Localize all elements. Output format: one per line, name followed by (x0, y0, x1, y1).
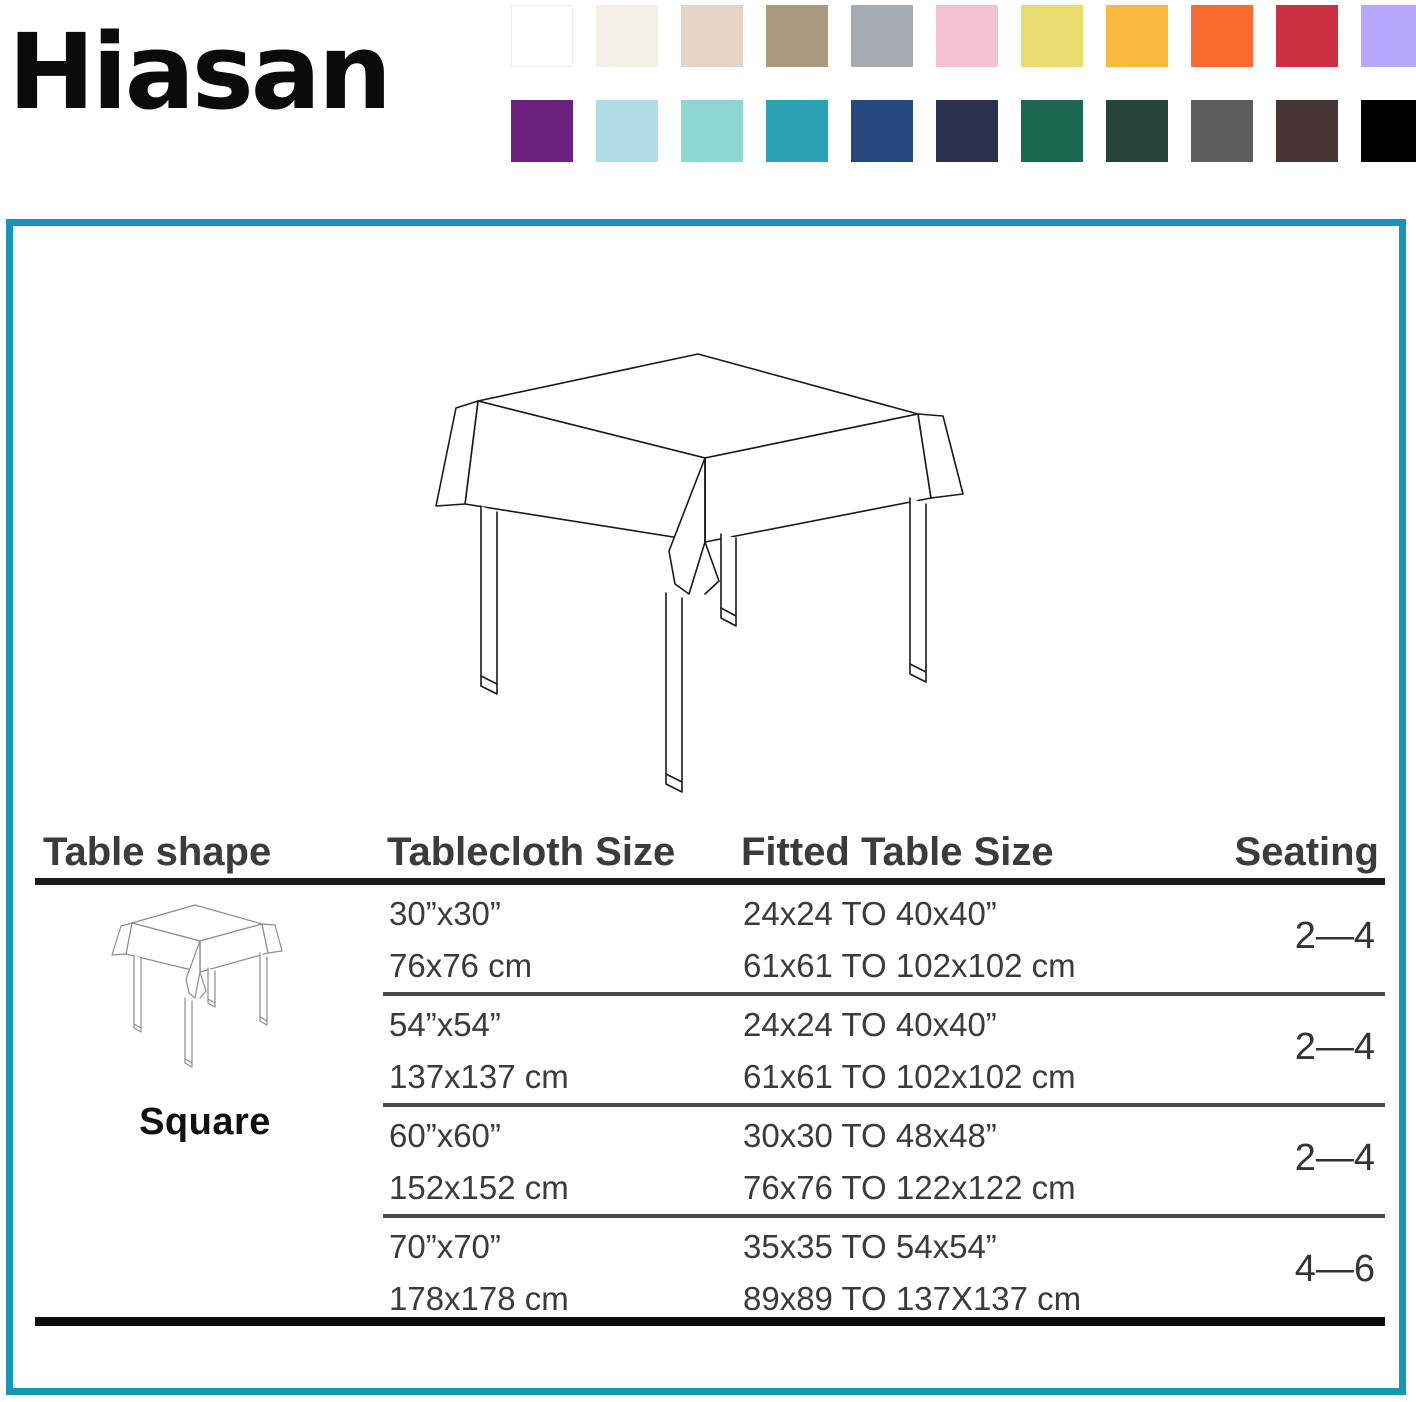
fitted-size-inches: 30x30 TO 48x48” (743, 1119, 997, 1152)
header-divider (35, 878, 1385, 885)
color-swatch-cream[interactable] (596, 5, 658, 67)
tablecloth-size-cm: 178x178 cm (389, 1282, 569, 1315)
size-spec-table: Table shape Tablecloth Size Fitted Table… (35, 806, 1385, 1326)
color-swatch-black[interactable] (1361, 100, 1416, 162)
cell-seating: 2—4 (1295, 917, 1375, 955)
tablecloth-size-inches: 54”x54” (389, 1008, 501, 1041)
column-header-seating: Seating (1235, 832, 1379, 872)
content-frame: Table shape Tablecloth Size Fitted Table… (6, 219, 1406, 1395)
color-swatch-green[interactable] (1021, 100, 1083, 162)
color-swatch-beige[interactable] (681, 5, 743, 67)
color-swatch-gray[interactable] (851, 5, 913, 67)
table-header-row: Table shape Tablecloth Size Fitted Table… (35, 806, 1385, 872)
cell-seating: 4—6 (1295, 1250, 1375, 1288)
brand-name: Hiasan (8, 20, 389, 124)
color-swatch-teal[interactable] (766, 100, 828, 162)
color-swatch-grid (511, 5, 1411, 175)
shape-label: Square (55, 1101, 355, 1144)
table-row: 30”x30”76x76 cm24x24 TO 40x40”61x61 TO 1… (383, 885, 1385, 996)
color-swatch-white[interactable] (511, 5, 573, 67)
fitted-size-inches: 35x35 TO 54x54” (743, 1230, 997, 1263)
data-rows: 30”x30”76x76 cm24x24 TO 40x40”61x61 TO 1… (383, 885, 1385, 1325)
column-header-fitted-table-size: Fitted Table Size (741, 832, 1054, 872)
color-swatch-dark-green[interactable] (1106, 100, 1168, 162)
square-table-icon (90, 897, 320, 1087)
tablecloth-size-inches: 60”x60” (389, 1119, 501, 1152)
table-row: 70”x70”178x178 cm35x35 TO 54x54”89x89 TO… (383, 1218, 1385, 1325)
table-body: Square 30”x30”76x76 cm24x24 TO 40x40”61x… (35, 885, 1385, 1315)
square-table-illustration (423, 346, 983, 806)
fitted-size-cm: 61x61 TO 102x102 cm (743, 949, 1076, 982)
fitted-size-inches: 24x24 TO 40x40” (743, 897, 997, 930)
shape-cell: Square (55, 897, 355, 1144)
color-swatch-golden-yellow[interactable] (1106, 5, 1168, 67)
color-swatch-orange[interactable] (1191, 5, 1253, 67)
fitted-size-cm: 89x89 TO 137X137 cm (743, 1282, 1081, 1315)
fitted-size-cm: 61x61 TO 102x102 cm (743, 1060, 1076, 1093)
color-swatch-charcoal-gray[interactable] (1191, 100, 1253, 162)
color-swatch-purple[interactable] (511, 100, 573, 162)
fitted-size-cm: 76x76 TO 122x122 cm (743, 1171, 1076, 1204)
color-swatch-taupe[interactable] (766, 5, 828, 67)
tablecloth-size-cm: 76x76 cm (389, 949, 532, 982)
brand-logo: Hiasan (8, 12, 468, 132)
color-swatch-navy[interactable] (936, 100, 998, 162)
color-swatch-lavender[interactable] (1361, 5, 1416, 67)
color-swatch-pink[interactable] (936, 5, 998, 67)
tablecloth-size-cm: 137x137 cm (389, 1060, 569, 1093)
tablecloth-size-cm: 152x152 cm (389, 1171, 569, 1204)
color-swatch-dark-brown[interactable] (1276, 100, 1338, 162)
swatch-row-bottom (511, 100, 1416, 162)
color-swatch-aqua[interactable] (681, 100, 743, 162)
tablecloth-size-inches: 70”x70” (389, 1230, 501, 1263)
cell-seating: 2—4 (1295, 1139, 1375, 1177)
cell-seating: 2—4 (1295, 1028, 1375, 1066)
table-row: 54”x54”137x137 cm24x24 TO 40x40”61x61 TO… (383, 996, 1385, 1107)
swatch-row-top (511, 5, 1416, 67)
color-swatch-light-blue[interactable] (596, 100, 658, 162)
tablecloth-size-inches: 30”x30” (389, 897, 501, 930)
fitted-size-inches: 24x24 TO 40x40” (743, 1008, 997, 1041)
table-row: 60”x60”152x152 cm30x30 TO 48x48”76x76 TO… (383, 1107, 1385, 1218)
column-header-table-shape: Table shape (43, 832, 271, 872)
color-swatch-yellow[interactable] (1021, 5, 1083, 67)
color-swatch-denim-blue[interactable] (851, 100, 913, 162)
color-swatch-red[interactable] (1276, 5, 1338, 67)
product-infographic: Hiasan (0, 0, 1416, 1402)
column-header-tablecloth-size: Tablecloth Size (387, 832, 675, 872)
